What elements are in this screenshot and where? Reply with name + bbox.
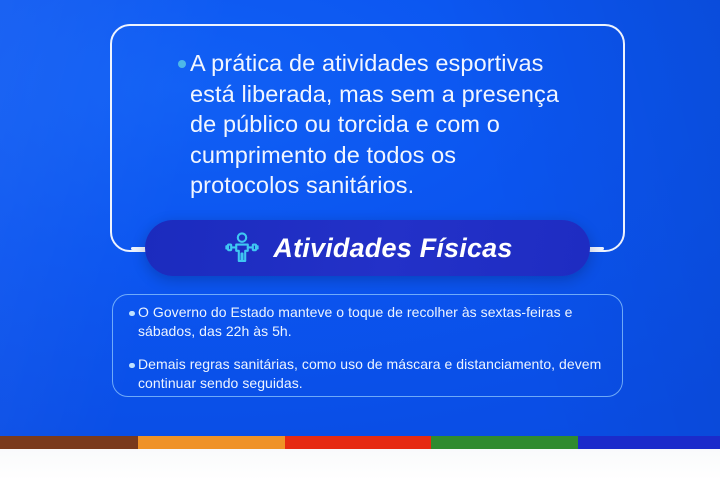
bottom-card-text-2: Demais regras sanitárias, como uso de má… xyxy=(138,355,614,393)
top-card-text: A prática de atividades esportivas está … xyxy=(190,48,568,201)
top-card-content: A prática de atividades esportivas está … xyxy=(178,48,568,201)
bullet-dot-icon xyxy=(178,60,186,68)
section-title-text: Atividades Físicas xyxy=(273,233,512,264)
banner-tick-right xyxy=(588,247,604,250)
bullet-dot-icon xyxy=(129,311,135,317)
footer-color-strip xyxy=(0,436,720,449)
section-title-banner: Atividades Físicas xyxy=(145,220,590,276)
list-item: Demais regras sanitárias, como uso de má… xyxy=(129,355,614,393)
list-item: O Governo do Estado manteve o toque de r… xyxy=(129,303,614,341)
strip-segment-red xyxy=(285,436,431,449)
top-bullet-item: A prática de atividades esportivas está … xyxy=(178,48,568,201)
bullet-dot-icon xyxy=(129,363,135,369)
strip-segment-dark-blue xyxy=(578,436,720,449)
strip-segment-brown xyxy=(0,436,138,449)
strip-segment-orange xyxy=(138,436,285,449)
person-dumbbells-icon xyxy=(222,228,262,268)
bottom-card-text-1: O Governo do Estado manteve o toque de r… xyxy=(138,303,614,341)
strip-segment-green xyxy=(431,436,578,449)
bottom-card-content: O Governo do Estado manteve o toque de r… xyxy=(129,303,614,393)
infographic-card: A prática de atividades esportivas está … xyxy=(0,0,720,480)
